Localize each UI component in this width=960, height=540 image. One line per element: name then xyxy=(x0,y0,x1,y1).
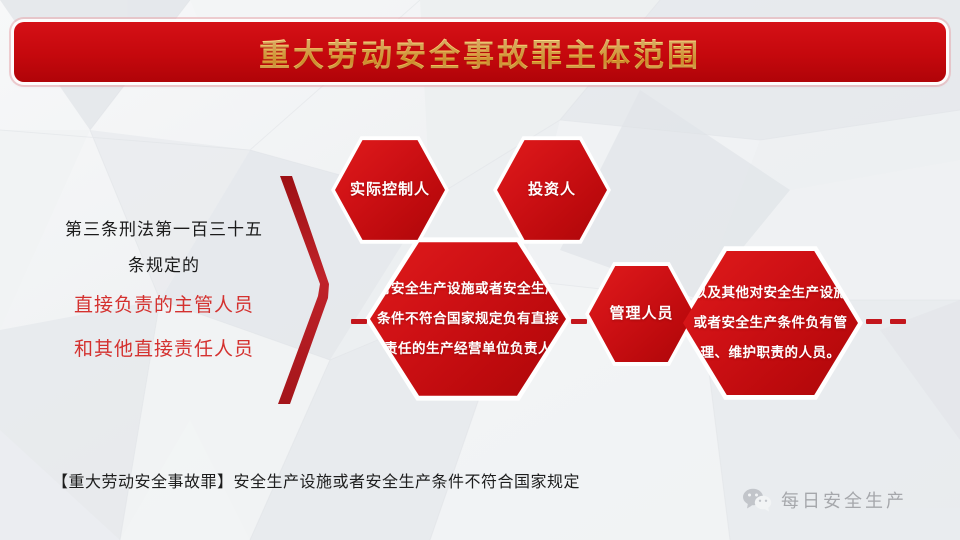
connector-dash-3 xyxy=(866,319,882,324)
hex-label-management-staff: 管理人员 xyxy=(603,303,679,325)
left-text-block: 第三条刑法第一百三十五 条规定的 直接负责的主管人员 和其他直接责任人员 xyxy=(40,212,288,372)
left-text-line-4: 和其他直接责任人员 xyxy=(40,328,288,372)
connector-dash-4 xyxy=(890,319,906,324)
left-text-line-3: 直接负责的主管人员 xyxy=(40,284,288,328)
left-text-line-1: 第三条刑法第一百三十五 xyxy=(40,212,288,248)
hex-label-responsible-person: 对安全生产设施或者安全生产条件不符合国家规定负有直接责任的生产经营单位负责人 xyxy=(370,274,566,364)
bottom-caption: 【重大劳动安全事故罪】安全生产设施或者安全生产条件不符合国家规定 xyxy=(52,468,580,492)
page-title: 重大劳动安全事故罪主体范围 xyxy=(259,30,701,75)
slide-title-bar: 重大劳动安全事故罪主体范围 xyxy=(14,22,946,82)
slide-canvas: 重大劳动安全事故罪主体范围 第三条刑法第一百三十五 条规定的 直接负责的主管人员… xyxy=(0,0,960,540)
connector-dash-2 xyxy=(571,319,587,324)
watermark: 每日安全生产 xyxy=(742,487,907,513)
hex-label-other-duty-staff: 以及其他对安全生产设施或者安全生产条件负有管理、维护职责的人员。 xyxy=(683,278,858,368)
hex-label-actual-controller: 实际控制人 xyxy=(344,179,436,201)
left-text-line-2: 条规定的 xyxy=(40,248,288,284)
wechat-icon xyxy=(742,488,772,512)
connector-dash-1 xyxy=(351,319,367,324)
watermark-text: 每日安全生产 xyxy=(781,487,907,513)
hex-label-investor: 投资人 xyxy=(522,179,582,201)
